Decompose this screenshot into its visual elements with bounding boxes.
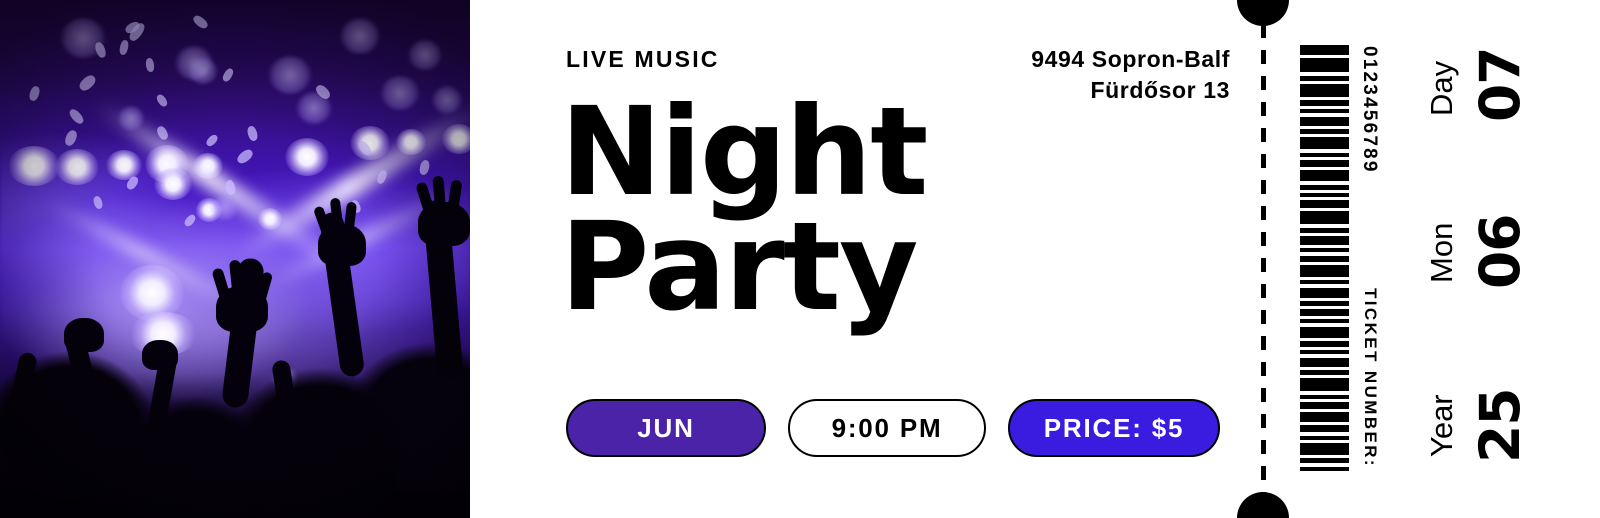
barcode-bar	[1300, 256, 1349, 262]
barcode-bar	[1300, 301, 1349, 306]
barcode-bar	[1300, 280, 1349, 284]
barcode-digits: 0123456789	[1358, 46, 1380, 174]
barcode-bar	[1300, 358, 1349, 367]
barcode-bar	[1300, 265, 1349, 277]
barcode-bar	[1300, 153, 1349, 157]
barcode-bar	[1300, 109, 1349, 113]
perforation-dashed-line	[1261, 24, 1266, 494]
title-line-2: Party	[560, 210, 926, 325]
barcode-bar	[1300, 117, 1349, 126]
stub-label-day: Day	[1424, 61, 1460, 116]
ticket-number-label: TICKET NUMBER:	[1360, 288, 1380, 468]
barcode-bar	[1300, 370, 1349, 375]
barcode-bar	[1300, 45, 1349, 55]
event-ticket: LIVE MUSIC 9494 Sopron-Balf Fürdősor 13 …	[0, 0, 1600, 518]
barcode-bar	[1300, 236, 1349, 245]
barcode-bar	[1300, 185, 1349, 190]
barcode-bar	[1300, 58, 1349, 72]
kicker-live-music: LIVE MUSIC	[566, 46, 720, 73]
barcode-bar	[1300, 248, 1349, 252]
barcode-bar	[1300, 350, 1349, 354]
event-title: Night Party	[560, 95, 926, 324]
barcode-bar	[1300, 412, 1349, 422]
stub-label-mon: Mon	[1424, 223, 1460, 283]
stub-label-year: Year	[1424, 394, 1460, 457]
barcode-bar	[1300, 84, 1349, 97]
photo-vignette	[0, 0, 470, 518]
perforation-notch-bottom	[1237, 492, 1289, 518]
barcode-bar	[1300, 170, 1349, 181]
barcode-bar	[1300, 458, 1349, 463]
title-line-1: Night	[560, 95, 926, 210]
barcode-bar	[1300, 436, 1349, 440]
barcode-bar	[1300, 200, 1349, 208]
detail-pill-group: JUN 9:00 PM PRICE: $5	[566, 399, 1220, 457]
barcode-bar	[1300, 467, 1349, 471]
barcode-bar	[1300, 228, 1349, 233]
concert-photo	[0, 0, 470, 518]
barcode-bar	[1300, 395, 1349, 399]
stub-value-mon: 06	[1468, 214, 1532, 289]
perforation-notch-top	[1237, 0, 1289, 26]
barcode-bar	[1300, 129, 1349, 134]
barcode-bar	[1300, 211, 1349, 224]
stub-value-day: 07	[1468, 47, 1532, 122]
barcode-bar	[1300, 309, 1349, 316]
barcode-bar	[1300, 425, 1349, 432]
barcode-bar	[1300, 193, 1349, 197]
stub-value-year: 25	[1468, 388, 1532, 463]
address-line-1: 9494 Sopron-Balf	[1031, 44, 1230, 75]
barcode-bar	[1300, 100, 1349, 106]
barcode	[1300, 45, 1349, 471]
price-pill[interactable]: PRICE: $5	[1008, 399, 1220, 457]
barcode-bar	[1300, 327, 1349, 338]
barcode-bar	[1300, 402, 1349, 409]
month-pill[interactable]: JUN	[566, 399, 766, 457]
barcode-bar	[1300, 288, 1349, 298]
venue-address: 9494 Sopron-Balf Fürdősor 13	[1031, 44, 1230, 107]
barcode-bar	[1300, 341, 1349, 347]
barcode-bar	[1300, 443, 1349, 455]
barcode-bar	[1300, 137, 1349, 149]
time-pill[interactable]: 9:00 PM	[788, 399, 986, 457]
barcode-bar	[1300, 160, 1349, 167]
barcode-bar	[1300, 76, 1349, 81]
barcode-bar	[1300, 378, 1349, 391]
barcode-bar	[1300, 319, 1349, 323]
address-line-2: Fürdősor 13	[1031, 75, 1230, 106]
